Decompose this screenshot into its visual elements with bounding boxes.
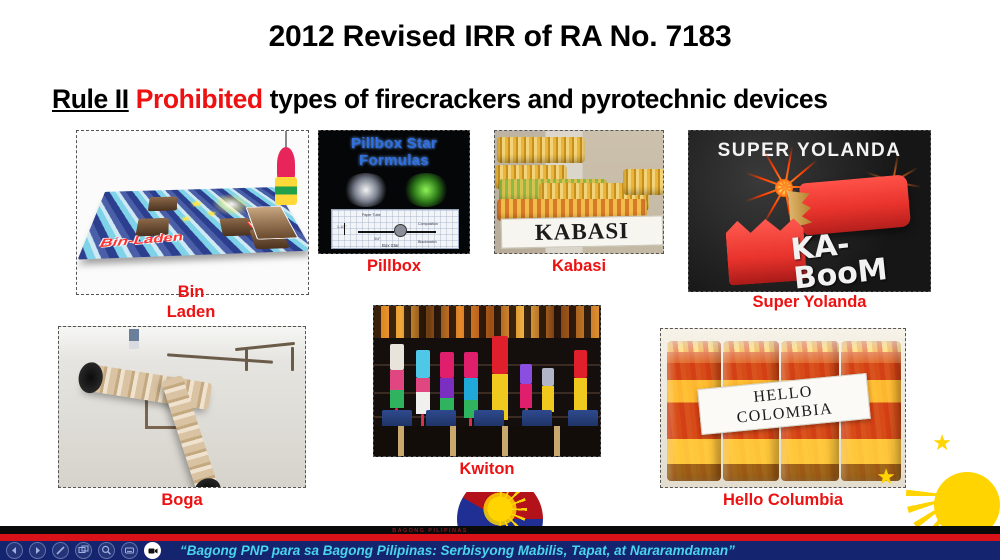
canopy-slats	[374, 306, 600, 338]
zoom-icon[interactable]	[98, 542, 115, 559]
rocket-mid	[440, 378, 454, 398]
pillbox-title-line2: Formulas	[319, 152, 469, 169]
stall-front	[374, 426, 600, 456]
plastic-wrap	[841, 341, 901, 363]
kwiton-rocket	[416, 350, 430, 414]
star-icon: ★	[876, 466, 896, 488]
caption-kabasi: Kabasi	[494, 256, 664, 276]
presentation-slide: 2012 Revised IRR of RA No. 7183 Rule II …	[0, 0, 1000, 560]
diagram-label-composition: Composition	[418, 222, 438, 226]
person-legs	[129, 329, 139, 349]
photo-bin-laden[interactable]: ★ ★ ★ Bin-Laden Laden	[76, 130, 309, 295]
footer-tagline: “Bagong PNP para sa Bagong Pilipinas: Se…	[180, 541, 735, 560]
star-icon: ★	[181, 215, 191, 225]
rocket-head	[416, 350, 430, 378]
rocket-mid	[416, 378, 430, 392]
footer-red-bar	[0, 534, 1000, 541]
rocket-mid	[520, 384, 532, 408]
shelf-line	[374, 364, 600, 366]
record-icon[interactable]	[144, 542, 161, 559]
pillbox-title-line1: Pillbox Star	[319, 135, 469, 152]
rocket-firecracker	[273, 143, 299, 213]
diagram-dimension-vertical: 1-1/2"	[337, 225, 346, 229]
rocket-head	[390, 344, 404, 370]
kwiton-rocket	[574, 350, 587, 412]
caption-super-yolanda: Super Yolanda	[688, 292, 931, 312]
diagram-label-blackmatch: Blackmatch	[418, 240, 437, 244]
metal-rail	[245, 347, 248, 371]
kwiton-rocket	[464, 352, 478, 418]
rocket-mid	[574, 378, 587, 412]
firecracker-bundle	[497, 137, 585, 163]
green-star-burst	[403, 173, 449, 207]
photo-super-yolanda[interactable]: SUPER YOLANDA KA- BooM	[688, 130, 931, 292]
caption-hello-columbia: Hello Columbia	[660, 490, 906, 510]
photo-hello-columbia[interactable]: HELLO COLOMBIA	[660, 328, 906, 488]
shelf-line	[374, 392, 600, 394]
rule-label: Rule II	[52, 84, 129, 114]
diagram-caption: Box Star	[382, 243, 399, 248]
star-icon: ★	[206, 209, 218, 218]
diagram-line	[406, 231, 436, 233]
subtitle-rest: types of firecrackers and pyrotechnic de…	[263, 84, 828, 114]
kwiton-rocket	[440, 352, 454, 418]
rocket-mid	[390, 390, 404, 408]
rocket-head	[440, 352, 454, 378]
caption-boga: Boga	[58, 490, 306, 510]
photo-pillbox[interactable]: Pillbox Star Formulas Paper Tube Composi…	[318, 130, 470, 254]
diagram-label-paper-tube: Paper Tube	[362, 213, 381, 217]
plastic-wrap	[667, 341, 721, 363]
pen-icon[interactable]	[52, 542, 69, 559]
rocket-head	[464, 352, 478, 378]
presentation-toolbar[interactable]	[6, 541, 161, 560]
kwiton-rocket	[520, 364, 532, 408]
photo-boga[interactable]	[58, 326, 306, 488]
kaboom-handwriting: KA- BooM	[789, 222, 924, 292]
kwiton-rocket	[542, 368, 554, 412]
rocket-mid	[542, 386, 554, 412]
diagram-line	[344, 223, 345, 235]
star-icon: ★	[190, 200, 203, 208]
diagram-line	[358, 231, 394, 233]
bin-laden-brand-text: Bin-Laden	[99, 224, 268, 250]
slide-subtitle: Rule II Prohibited types of firecrackers…	[52, 84, 962, 115]
rocket-head	[542, 368, 554, 386]
firecracker-bundle	[623, 169, 664, 195]
plastic-wrap	[723, 341, 779, 363]
portrait-graphic	[148, 196, 177, 211]
kwiton-rocket	[492, 336, 508, 420]
rocket-head	[520, 364, 532, 384]
star-icon: ★	[932, 432, 952, 454]
white-star-burst	[343, 173, 389, 207]
metal-rail	[291, 347, 294, 371]
prohibited-label: Prohibited	[136, 84, 263, 114]
rocket-mid	[464, 378, 478, 400]
kabasi-sign-text: KABASI	[535, 218, 630, 246]
rocket-cone	[277, 147, 295, 181]
pillbox-title-text: Pillbox Star Formulas	[319, 135, 469, 169]
rocket-head	[574, 350, 587, 378]
sign-line-2: COLOMBIA	[736, 399, 834, 427]
page-title: 2012 Revised IRR of RA No. 7183	[0, 20, 1000, 54]
photo-kabasi[interactable]: KABASI	[494, 130, 664, 254]
rocket-body	[275, 177, 297, 205]
notes-icon[interactable]	[121, 542, 138, 559]
photo-kwiton[interactable]	[373, 305, 601, 457]
kabasi-sign: KABASI	[501, 215, 664, 248]
rocket-mid	[390, 370, 404, 390]
rocket-head	[492, 336, 508, 374]
kwiton-rocket	[390, 344, 404, 408]
next-slide-icon[interactable]	[29, 542, 46, 559]
caption-kwiton: Kwiton	[373, 459, 601, 479]
caption-bin-laden: Bin Laden	[96, 282, 286, 322]
box-star-diagram: Paper Tube Composition Blackmatch 1-1/2"…	[331, 209, 459, 249]
previous-slide-icon[interactable]	[6, 542, 23, 559]
diagram-dimension-horizontal: 3/4"	[374, 237, 380, 241]
diagram-star-pellet	[394, 224, 407, 237]
bagong-pilipinas-tag: BAGONG PILIPINAS	[330, 527, 530, 535]
plastic-wrap	[781, 341, 839, 363]
all-slides-icon[interactable]	[75, 542, 92, 559]
caption-pillbox: Pillbox	[318, 256, 470, 276]
